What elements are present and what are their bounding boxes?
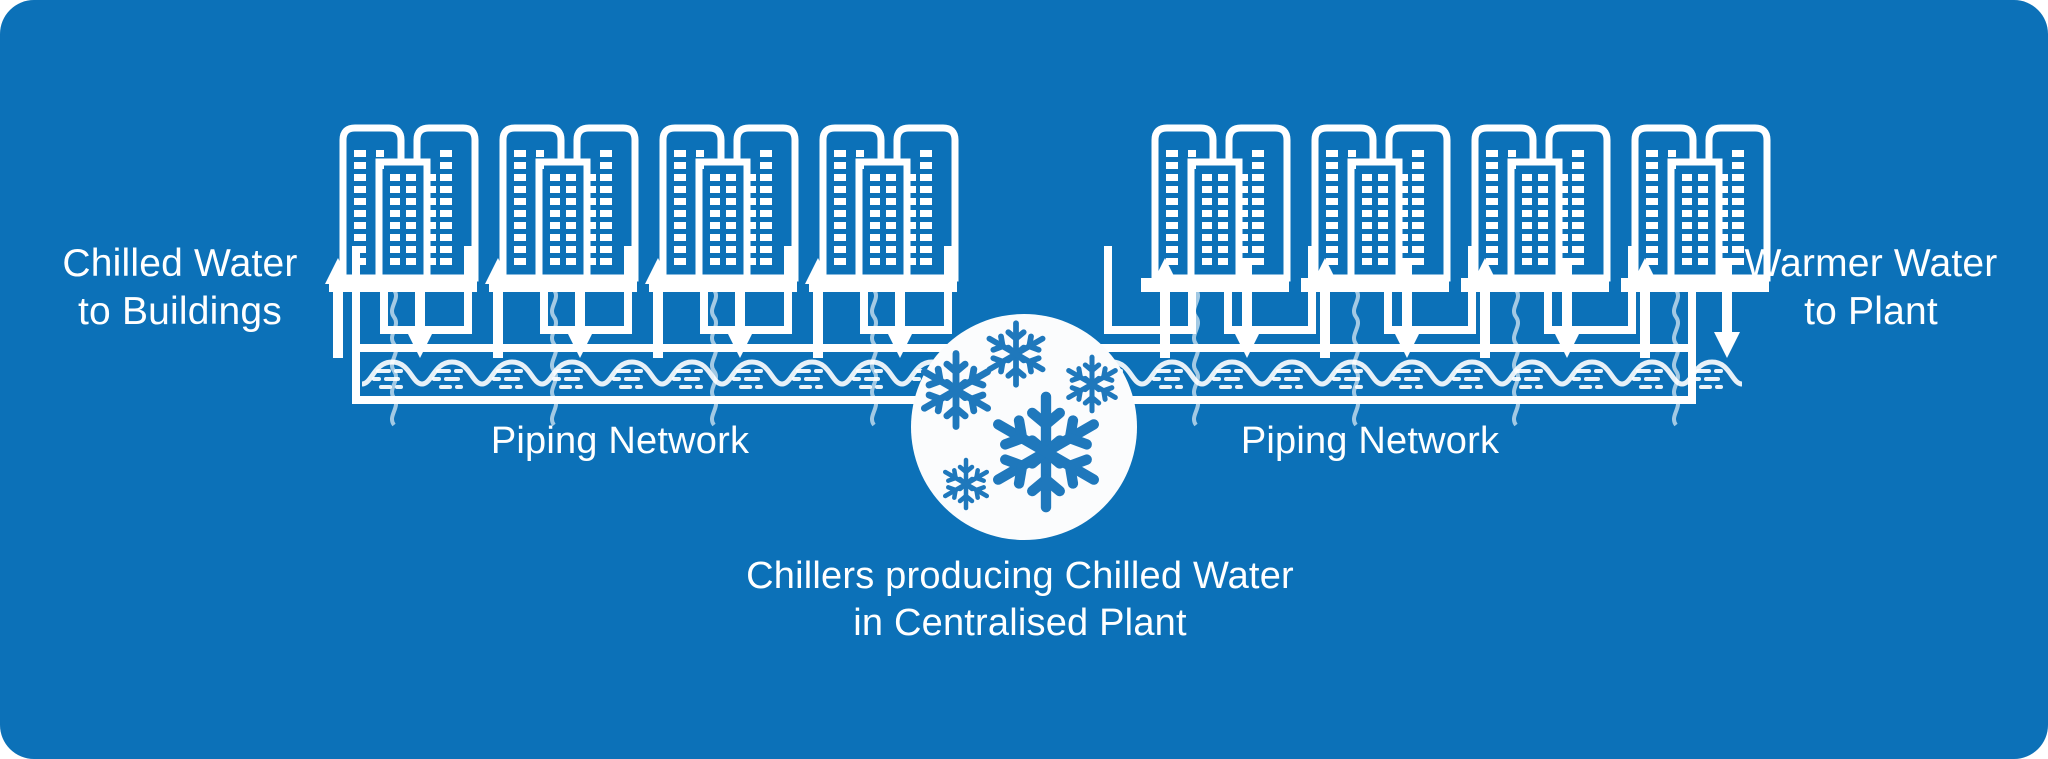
building-group-2 — [489, 128, 637, 292]
building-group-1 — [329, 128, 477, 292]
label-chillers-caption: Chillers producing Chilled Water in Cent… — [640, 553, 1400, 647]
label-chilled-water-to-buildings: Chilled Water to Buildings — [40, 240, 320, 337]
building-group-4 — [809, 128, 957, 292]
label-piping-network-left: Piping Network — [420, 418, 820, 465]
label-warmer-water-to-plant: Warmer Water to Plant — [1726, 240, 2016, 337]
label-piping-network-right: Piping Network — [1170, 418, 1570, 465]
building-groups-right — [1141, 128, 1769, 292]
building-group-3 — [649, 128, 797, 292]
diagram-root: Chilled Water to Buildings Warmer Water … — [0, 0, 2048, 759]
building-groups-left — [329, 128, 957, 292]
chiller-plant-circle — [911, 314, 1137, 540]
